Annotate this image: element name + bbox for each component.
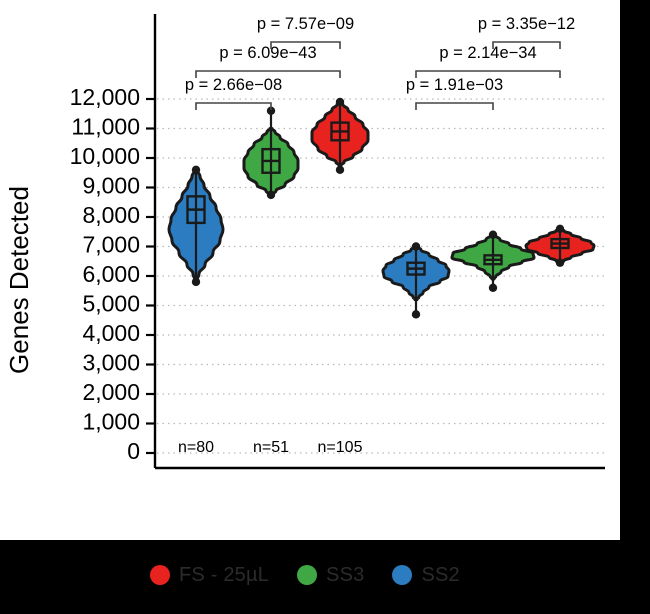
p-value-label: p = 2.14e−34 <box>439 44 536 62</box>
p-value-label: p = 7.57e−09 <box>257 15 354 33</box>
legend-item-label: SS2 <box>421 564 459 587</box>
y-tick-label: 0 <box>127 438 140 464</box>
outlier-point <box>556 259 564 267</box>
outlier-point <box>336 166 344 174</box>
legend-item-label: SS3 <box>326 564 364 587</box>
legend-item[interactable]: SS2 <box>392 564 459 587</box>
y-axis-title: Genes Detected <box>4 186 34 374</box>
y-tick-label: 12,000 <box>70 84 140 110</box>
outlier-point <box>336 98 344 106</box>
sample-size-label: n=80 <box>178 439 214 456</box>
outlier-point <box>489 231 497 239</box>
legend-item-label: FS - 25µL <box>179 564 269 587</box>
sample-size-label: n=105 <box>318 439 363 456</box>
violin-SS2-g1 <box>169 166 223 286</box>
legend: FS - 25µLSS3SS2 <box>150 555 610 595</box>
significance-bracket: p = 1.91e−03 <box>406 76 503 110</box>
significance-bracket: p = 6.09e−43 <box>196 44 340 78</box>
significance-bracket: p = 2.14e−34 <box>416 44 560 78</box>
outlier-point <box>267 191 275 199</box>
violin-FS25L-g1 <box>312 98 368 174</box>
significance-bracket: p = 2.66e−08 <box>185 76 282 110</box>
y-tick-label: 11,000 <box>71 114 140 140</box>
p-value-label: p = 3.35e−12 <box>478 15 575 33</box>
outlier-point <box>489 284 497 292</box>
circle-marker-icon <box>150 565 170 585</box>
y-tick-label: 5,000 <box>82 291 140 317</box>
p-value-label: p = 1.91e−03 <box>406 76 503 94</box>
y-tick-label: 7,000 <box>82 232 140 258</box>
y-tick-label: 6,000 <box>82 261 140 287</box>
bracket-line <box>196 103 271 110</box>
y-tick-label: 2,000 <box>82 379 140 405</box>
chart-svg: 12,00011,00010,0009,0008,0007,0006,0005,… <box>0 0 650 614</box>
outlier-point <box>192 166 200 174</box>
y-tick-labels: 12,00011,00010,0009,0008,0007,0006,0005,… <box>70 84 140 464</box>
legend-item[interactable]: SS3 <box>297 564 364 587</box>
violin-SS3-g1 <box>244 107 298 199</box>
y-tick-label: 4,000 <box>82 320 140 346</box>
sample-size-label: n=51 <box>253 439 289 456</box>
significance-brackets-layer: p = 2.66e−08p = 6.09e−43p = 7.57e−09p = … <box>185 15 575 110</box>
outlier-point <box>412 242 420 250</box>
gridlines-layer <box>157 99 605 453</box>
legend-item[interactable]: FS - 25µL <box>150 564 269 587</box>
violin-plot-figure: 12,00011,00010,0009,0008,0007,0006,0005,… <box>0 0 650 614</box>
bracket-line <box>416 103 493 110</box>
y-tick-label: 9,000 <box>82 173 140 199</box>
y-tick-label: 1,000 <box>82 409 140 435</box>
outlier-point <box>556 225 564 233</box>
violins-layer <box>169 98 594 319</box>
outlier-point <box>192 278 200 286</box>
violin-SS3-g2 <box>452 231 534 292</box>
y-tick-label: 8,000 <box>82 202 140 228</box>
y-tick-label: 10,000 <box>70 143 140 169</box>
circle-marker-icon <box>392 565 412 585</box>
p-value-label: p = 6.09e−43 <box>219 44 316 62</box>
circle-marker-icon <box>297 565 317 585</box>
p-value-label: p = 2.66e−08 <box>185 76 282 94</box>
violin-FS25L-g2 <box>526 225 594 267</box>
y-tick-label: 3,000 <box>82 350 140 376</box>
outlier-point <box>412 310 420 318</box>
sample-size-labels: n=80n=51n=105 <box>178 439 363 456</box>
violin-SS2-g2 <box>383 242 449 318</box>
